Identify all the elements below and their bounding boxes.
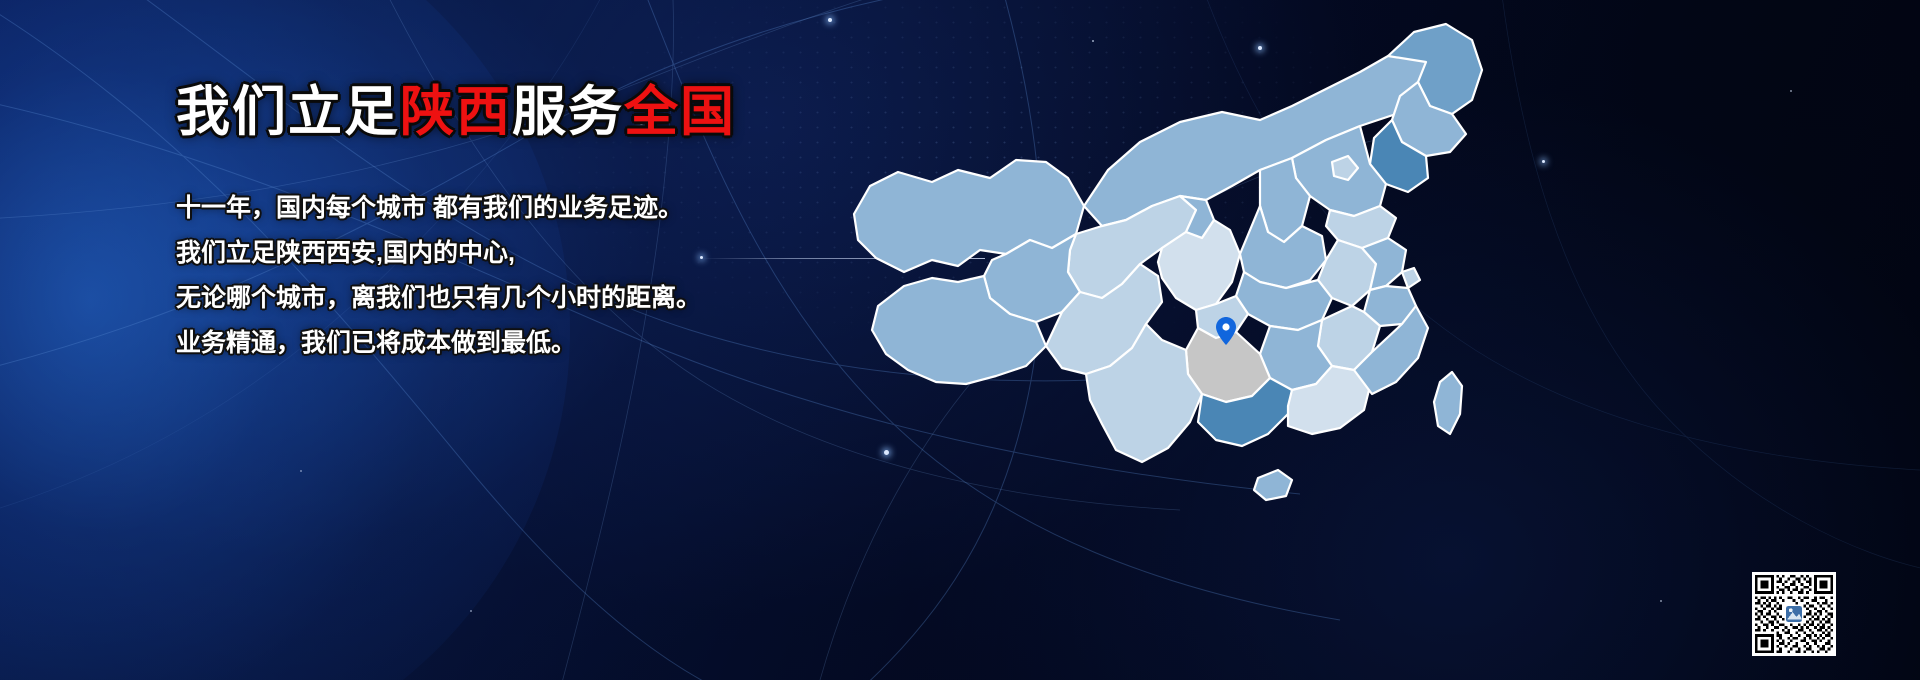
hero-banner: 我们立足陕西服务全国 十一年，国内每个城市 都有我们的业务足迹。 我们立足陕西西… [0,0,1920,680]
page-title: 我们立足陕西服务全国 [176,82,876,142]
banner-body-text: 十一年，国内每个城市 都有我们的业务足迹。 我们立足陕西西安,国内的中心, 无论… [176,186,876,366]
china-map[interactable] [840,10,1520,570]
banner-text-column: 我们立足陕西服务全国 十一年，国内每个城市 都有我们的业务足迹。 我们立足陕西西… [176,82,876,366]
wechat-qr-code[interactable] [1752,572,1836,656]
star-decoration [1660,600,1662,602]
body-line: 无论哪个城市，离我们也只有几个小时的距离。 [176,276,876,321]
headline-segment-4-highlight: 全国 [624,82,736,142]
province-shanghai [1402,268,1420,288]
headline-segment-1: 我们立足 [176,82,400,142]
headline-segment-3: 服务 [512,82,624,142]
star-decoration [470,610,472,612]
headline-segment-2-highlight: 陕西 [400,82,512,142]
star-decoration [1542,160,1545,163]
star-decoration [828,18,832,22]
body-line: 十一年，国内每个城市 都有我们的业务足迹。 [176,186,876,231]
body-line: 业务精通，我们已将成本做到最低。 [176,321,876,366]
province-hainan [1254,470,1292,500]
province-taiwan [1434,372,1462,434]
location-pin-icon[interactable] [1216,317,1236,345]
star-decoration [300,470,302,472]
star-decoration [1790,90,1792,92]
body-line: 我们立足陕西西安,国内的中心, [176,231,876,276]
